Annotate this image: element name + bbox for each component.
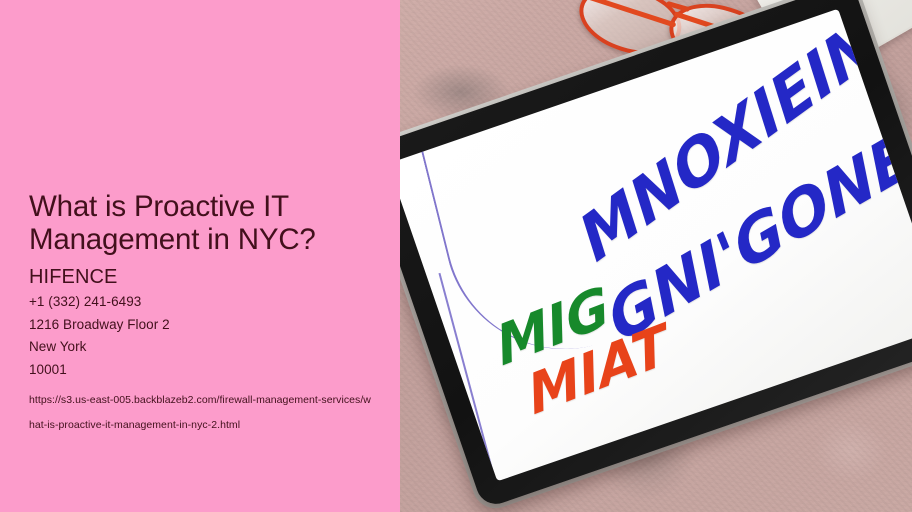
page-title: What is Proactive IT Management in NYC? [29, 190, 377, 256]
company-name: HIFENCE [29, 265, 377, 289]
source-url[interactable]: https://s3.us-east-005.backblazeb2.com/f… [29, 388, 374, 438]
photo-panel: MNOXIEINT GNI'GONES MIG MIAT [400, 0, 912, 512]
contact-details: +1 (332) 241-6493 1216 Broadway Floor 2 … [29, 291, 377, 381]
text-panel: What is Proactive IT Management in NYC? … [0, 0, 400, 512]
address-zip: 10001 [29, 359, 377, 382]
text-block: What is Proactive IT Management in NYC? … [29, 190, 377, 438]
phone-number[interactable]: +1 (332) 241-6493 [29, 291, 377, 314]
address-street: 1216 Broadway Floor 2 [29, 314, 377, 337]
screenshot-root: What is Proactive IT Management in NYC? … [0, 0, 912, 512]
address-city: New York [29, 336, 377, 359]
